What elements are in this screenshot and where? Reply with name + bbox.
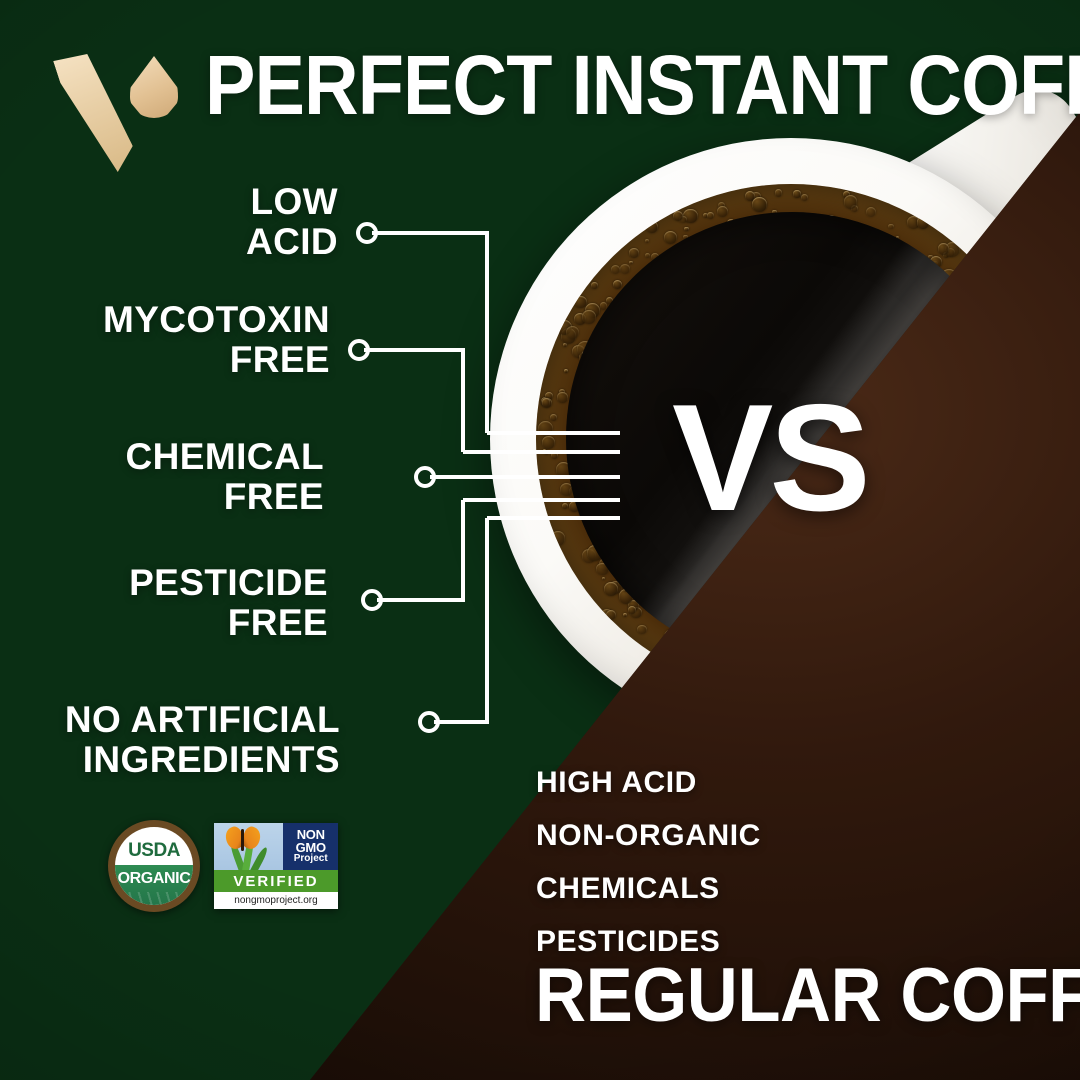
non-gmo-project-badge-icon: NON GMO Project VERIFIED nongmoproject.o… [214, 823, 338, 909]
feature-label-mycotoxin-free: MYCOTOXIN FREE [103, 300, 330, 380]
feature-line: FREE [126, 477, 324, 517]
infographic-canvas: PERFECT INSTANT COFFEE LOW ACID MYCOTOXI… [0, 0, 1080, 1080]
feature-line: FREE [103, 340, 330, 380]
gmo-wordmark: NON GMO Project [283, 823, 338, 870]
feature-line: NO ARTIFICIAL [65, 700, 340, 740]
feature-line: PESTICIDE [129, 563, 328, 603]
feature-label-no-artificial-ingredients: NO ARTIFICIAL INGREDIENTS [65, 700, 340, 780]
logo-v-mark-icon [51, 54, 141, 172]
usda-organic-badge-icon: USDA ORGANIC [108, 820, 200, 912]
logo-droplet-icon [130, 56, 178, 118]
usda-badge-inner: USDA ORGANIC [115, 827, 193, 905]
feature-line: LOW [246, 182, 338, 222]
con-item: CHEMICALS [536, 874, 761, 904]
butterfly-icon [226, 827, 260, 853]
gmo-url-text: nongmoproject.org [214, 892, 338, 909]
feature-label-low-acid: LOW ACID [246, 182, 338, 262]
regular-coffee-cons-list: HIGH ACID NON-ORGANIC CHEMICALS PESTICID… [536, 768, 761, 980]
gmo-word-project: Project [294, 854, 328, 864]
page-title: PERFECT INSTANT COFFEE [205, 44, 1080, 126]
gmo-butterfly-scene [214, 823, 283, 870]
regular-coffee-title: REGULAR COFFEE [535, 958, 1080, 1034]
butterfly-body [241, 829, 244, 851]
feature-line: CHEMICAL [126, 437, 324, 477]
feature-line: FREE [129, 603, 328, 643]
usda-badge-line1: USDA [115, 840, 193, 862]
feature-label-pesticide-free: PESTICIDE FREE [129, 563, 328, 643]
brand-logo [58, 46, 178, 166]
con-item: HIGH ACID [536, 768, 761, 798]
feature-line: INGREDIENTS [65, 740, 340, 780]
feature-label-chemical-free: CHEMICAL FREE [126, 437, 324, 517]
certification-badges: USDA ORGANIC NON GMO [108, 820, 338, 912]
feature-line: ACID [246, 222, 338, 262]
usda-badge-line2: ORGANIC [115, 870, 193, 888]
gmo-badge-art: NON GMO Project [214, 823, 338, 870]
feature-line: MYCOTOXIN [103, 300, 330, 340]
gmo-verified-bar: VERIFIED [214, 870, 338, 892]
vs-label: VS [672, 382, 867, 534]
con-item: NON-ORGANIC [536, 821, 761, 851]
